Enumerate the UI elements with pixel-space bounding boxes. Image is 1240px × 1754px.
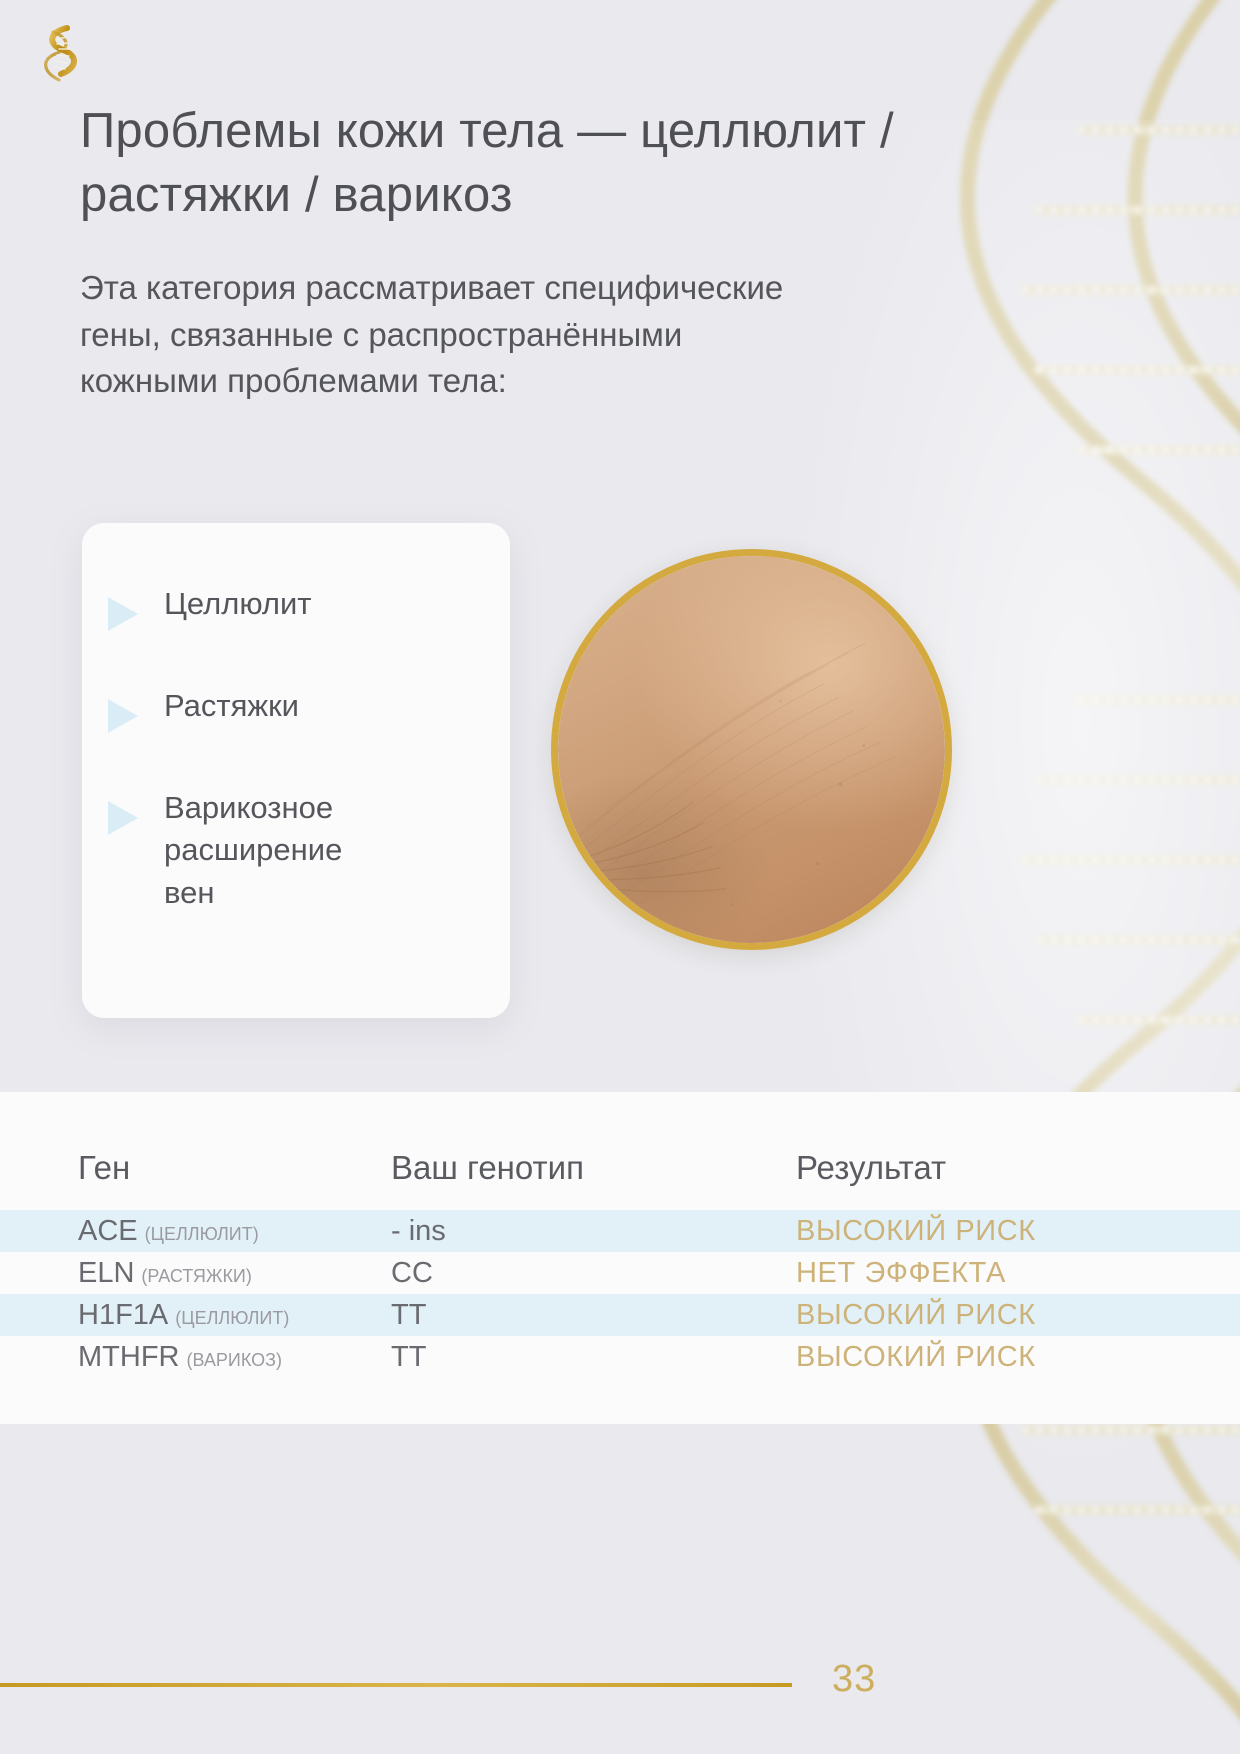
gene-tag: (ЦЕЛЛЮЛИТ) <box>175 1308 289 1328</box>
cell-result: НЕТ ЭФФЕКТА <box>796 1257 1162 1290</box>
gene-tag: (РАСТЯЖКИ) <box>141 1266 251 1286</box>
column-header-gene: Ген <box>78 1149 391 1187</box>
cell-gene: ELN(РАСТЯЖКИ) <box>78 1257 391 1290</box>
triangle-bullet-icon <box>108 801 138 835</box>
photo-texture-overlay <box>558 556 945 943</box>
gene-tag: (ЦЕЛЛЮЛИТ) <box>145 1224 259 1244</box>
cell-gene: H1F1A(ЦЕЛЛЮЛИТ) <box>78 1299 391 1332</box>
list-item: Растяжки <box>82 685 510 733</box>
cell-gene: ACE(ЦЕЛЛЮЛИТ) <box>78 1215 391 1248</box>
cell-genotype: TT <box>391 1341 796 1374</box>
triangle-bullet-icon <box>108 597 138 631</box>
footer-divider <box>0 1683 792 1687</box>
skin-texture-photo <box>551 549 952 950</box>
cell-genotype: TT <box>391 1299 796 1332</box>
cell-genotype: - ins <box>391 1215 796 1248</box>
cell-result: ВЫСОКИЙ РИСК <box>796 1299 1162 1332</box>
cell-genotype: CC <box>391 1257 796 1290</box>
table-row: H1F1A(ЦЕЛЛЮЛИТ) TT ВЫСОКИЙ РИСК <box>0 1294 1240 1336</box>
table-row: ACE(ЦЕЛЛЮЛИТ) - ins ВЫСОКИЙ РИСК <box>0 1210 1240 1252</box>
column-header-genotype: Ваш генотип <box>391 1149 796 1187</box>
page-number: 33 <box>832 1658 876 1701</box>
table-row: MTHFR(ВАРИКОЗ) TT ВЫСОКИЙ РИСК <box>0 1336 1240 1378</box>
gene-tag: (ВАРИКОЗ) <box>186 1350 282 1370</box>
list-item-label: Целлюлит <box>164 583 312 625</box>
gene-name: MTHFR <box>78 1341 179 1373</box>
conditions-card: Целлюлит Растяжки Варикозное расширение … <box>82 523 510 1018</box>
table-header-row: Ген Ваш генотип Результат <box>0 1126 1240 1210</box>
intro-paragraph: Эта категория рассматривает специфически… <box>80 265 800 405</box>
cell-gene: MTHFR(ВАРИКОЗ) <box>78 1341 391 1374</box>
triangle-bullet-icon <box>108 699 138 733</box>
column-header-result: Результат <box>796 1149 1162 1187</box>
list-item-label: Растяжки <box>164 685 299 727</box>
gene-name: ELN <box>78 1257 134 1289</box>
list-item: Целлюлит <box>82 583 510 631</box>
list-item-label: Варикозное расширение вен <box>164 787 342 914</box>
cell-result: ВЫСОКИЙ РИСК <box>796 1215 1162 1248</box>
slide-page: Проблемы кожи тела — целлюлит / растяжки… <box>0 0 1240 1754</box>
dna-helix-icon <box>33 22 87 86</box>
gene-name: H1F1A <box>78 1299 168 1331</box>
table-row: ELN(РАСТЯЖКИ) CC НЕТ ЭФФЕКТА <box>0 1252 1240 1294</box>
page-title: Проблемы кожи тела — целлюлит / растяжки… <box>80 100 960 227</box>
list-item: Варикозное расширение вен <box>82 787 510 914</box>
cell-result: ВЫСОКИЙ РИСК <box>796 1341 1162 1374</box>
genotype-results-table: Ген Ваш генотип Результат ACE(ЦЕЛЛЮЛИТ) … <box>0 1092 1240 1424</box>
gene-name: ACE <box>78 1215 138 1247</box>
